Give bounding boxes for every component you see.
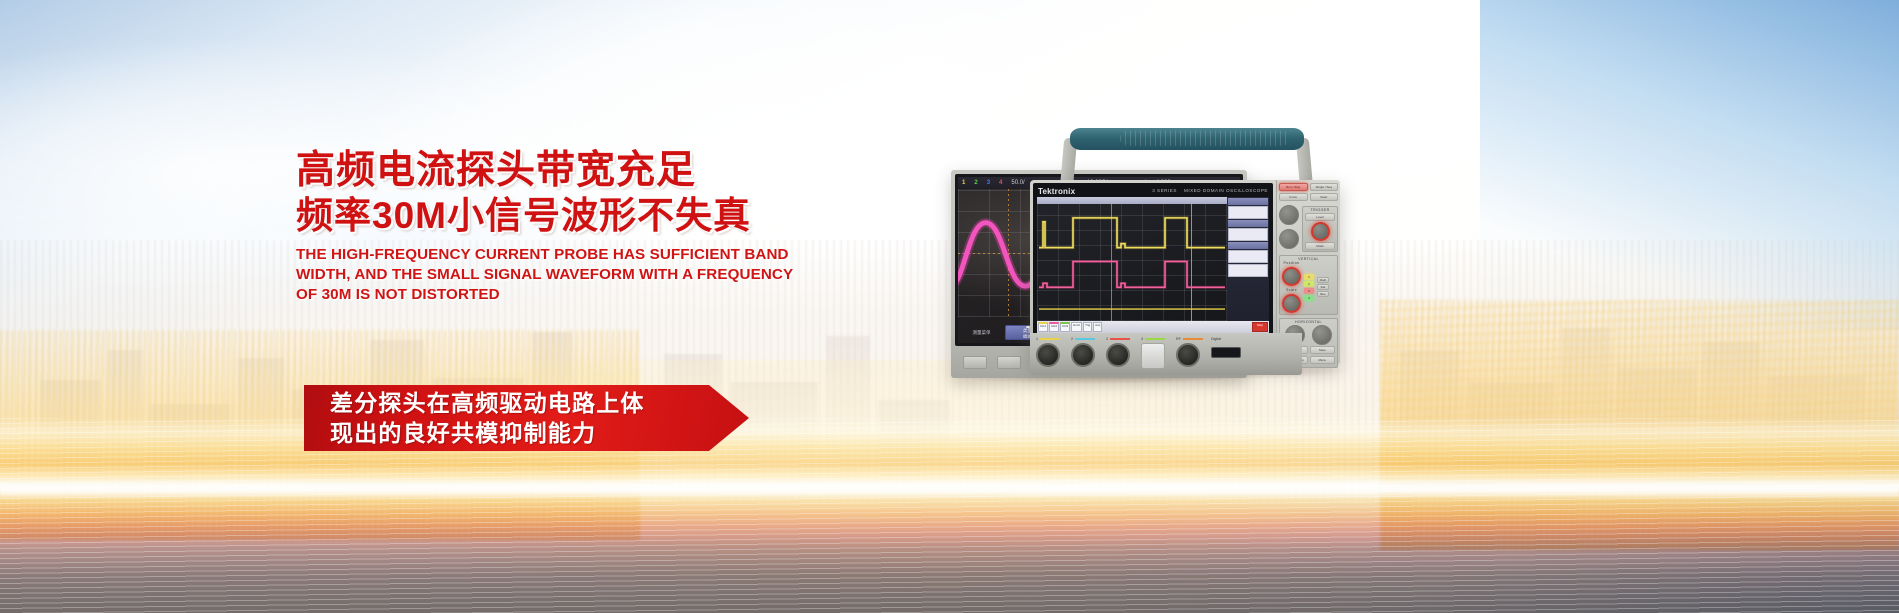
scope2-run-status-badge[interactable]: Stop xyxy=(1252,322,1268,332)
scope2-connector-digital[interactable]: Digital xyxy=(1211,337,1251,358)
light-streaks-fine xyxy=(0,418,1899,613)
headline-line-1: 高频电流探头带宽充足 xyxy=(296,148,766,193)
scope2-connector-2[interactable]: 2 xyxy=(1071,337,1103,367)
tektronix-oscilloscope: Tektronix 3 SERIES MIXED DOMAIN OSCILLOS… xyxy=(1030,128,1340,378)
scope2-channel-2-button[interactable]: 2 xyxy=(1304,281,1314,287)
scope2-run-stop-button[interactable]: Run / Stop xyxy=(1279,183,1308,191)
scope2-badge-ch3[interactable]: CH3 xyxy=(1060,322,1070,332)
scope1-ch4-indicator[interactable]: 4 xyxy=(999,180,1002,186)
scope1-ch3-indicator[interactable]: 3 xyxy=(987,180,990,186)
scope2-vertical-position-knob[interactable] xyxy=(1282,267,1301,286)
scope2-single-seq-button[interactable]: Single / Seq xyxy=(1310,183,1339,191)
scope2-menu-button[interactable]: Menu xyxy=(1310,356,1336,364)
scope1-button-1[interactable] xyxy=(963,356,987,369)
scope2-model: 3 SERIES xyxy=(1152,188,1177,193)
scope2-connector-2-color-bar xyxy=(1075,338,1095,340)
scope2-badge-bar: CH1 CH2 CH3 Horiz Trig Acq Stop xyxy=(1037,321,1269,333)
promo-banner: 高频电流探头带宽充足 频率30M小信号波形不失真 THE HIGH-FREQUE… xyxy=(0,0,1899,613)
scope2-badge-ch2[interactable]: CH2 xyxy=(1049,322,1059,332)
ribbon-callout: 差分探头在高频驱动电路上体 现出的良好共模抑制能力 xyxy=(304,385,749,451)
scope2-connector-1[interactable]: 1 xyxy=(1036,337,1068,367)
scope2-connector-2-label: 2 xyxy=(1071,337,1073,341)
scope2-probe-4[interactable] xyxy=(1141,343,1165,369)
scope2-display xyxy=(1037,197,1269,321)
scope2-channel-4-button[interactable]: 4 xyxy=(1304,295,1314,301)
scope2-model-desc: MIXED DOMAIN OSCILLOSCOPE xyxy=(1184,188,1268,193)
scope2-channel-1-button[interactable]: 1 xyxy=(1304,274,1314,280)
scope2-badge-ch1[interactable]: CH1 xyxy=(1038,322,1048,332)
scope2-clear-button[interactable]: Clear xyxy=(1310,193,1339,201)
scope2-channel-side-buttons: Math Ref Bus xyxy=(1317,277,1329,297)
subheadline-block: THE HIGH-FREQUENCY CURRENT PROBE HAS SUF… xyxy=(296,245,756,305)
scope2-bnc-1[interactable] xyxy=(1036,343,1060,367)
scope2-connector-rf-label: RF xyxy=(1176,337,1181,341)
scope2-connector-digital-label: Digital xyxy=(1211,337,1221,341)
scope1-ch1-indicator[interactable]: 1 xyxy=(962,180,965,186)
scope2-trigger-title: TRIGGER xyxy=(1305,208,1335,212)
subheadline-line-1: THE HIGH-FREQUENCY CURRENT PROBE HAS SUF… xyxy=(296,245,756,265)
tektronix-brand-name: Tektronix xyxy=(1038,187,1075,196)
scope1-timebase: 50.0/ xyxy=(1011,180,1024,186)
headline-line-2: 频率30M小信号波形不失真 xyxy=(296,194,766,238)
scope2-connector-rf-color-bar xyxy=(1183,338,1203,340)
scope2-trigger-mode-button[interactable]: Mode xyxy=(1305,242,1335,250)
subheadline-line-2: WIDTH, AND THE SMALL SIGNAL WAVEFORM WIT… xyxy=(296,265,756,285)
scope2-model-label: 3 SERIES MIXED DOMAIN OSCILLOSCOPE xyxy=(1152,188,1268,193)
scope2-handle-ribs xyxy=(1120,131,1290,146)
scope2-menu-item-1[interactable] xyxy=(1228,206,1268,219)
scope2-badge-trig[interactable]: Trig xyxy=(1083,322,1092,332)
light-streak-highlight xyxy=(0,478,1899,500)
scope2-connector-rf[interactable]: RF xyxy=(1176,337,1208,367)
scope2-bnc-2[interactable] xyxy=(1071,343,1095,367)
scope2-vertical-position-label: Position xyxy=(1284,261,1300,265)
scope2-side-menu[interactable] xyxy=(1227,197,1269,321)
scope2-channel-buttons: 1 2 3 4 xyxy=(1304,274,1314,301)
scope2-vertical-scale-knob[interactable] xyxy=(1282,294,1301,313)
scope2-badge-horiz[interactable]: Horiz xyxy=(1071,322,1082,332)
scope2-connector-4-label: 4 xyxy=(1141,337,1143,341)
scope2-connector-1-label: 1 xyxy=(1036,337,1038,341)
scope2-input-connectors: 1 2 3 4 xyxy=(1030,333,1302,375)
scope2-trigger-source-button[interactable]: Level xyxy=(1305,213,1335,221)
scope2-menu-header-1 xyxy=(1228,198,1268,205)
scope2-menu-item-3[interactable] xyxy=(1228,250,1268,263)
scope2-connector-3[interactable]: 3 xyxy=(1106,337,1138,367)
scope2-trigger-section: TRIGGER Level Mode xyxy=(1302,206,1338,252)
scope2-runstop-row: Run / Stop Single / Seq xyxy=(1279,183,1338,191)
scope2-horizontal-title: HORIZONTAL xyxy=(1282,320,1335,324)
scope2-connector-3-label: 3 xyxy=(1106,337,1108,341)
scope2-carry-handle[interactable] xyxy=(1048,128,1326,164)
scope2-bnc-rf[interactable] xyxy=(1176,343,1200,367)
scope2-bus-button[interactable]: Bus xyxy=(1317,291,1329,297)
scope2-math-button[interactable]: Math xyxy=(1317,277,1329,283)
scope1-softkey-0-label: 测量菜单 xyxy=(973,330,991,336)
scope2-digital-port[interactable] xyxy=(1211,347,1241,358)
scope2-channel-3-button[interactable]: 3 xyxy=(1304,288,1314,294)
scope2-multipurpose-knob-b[interactable] xyxy=(1279,229,1299,249)
scope2-connector-4-color-bar xyxy=(1145,338,1165,340)
scope2-waveforms xyxy=(1037,204,1227,321)
scope2-connector-3-color-bar xyxy=(1110,338,1130,340)
scope2-menu-item-2[interactable] xyxy=(1228,228,1268,241)
scope2-trigger-level-knob[interactable] xyxy=(1311,222,1330,241)
scope1-ch2-indicator[interactable]: 2 xyxy=(974,180,977,186)
headline-block: 高频电流探头带宽充足 频率30M小信号波形不失真 THE HIGH-FREQUE… xyxy=(296,148,766,305)
scope2-plot-area[interactable] xyxy=(1037,197,1227,321)
scope2-ref-button[interactable]: Ref xyxy=(1317,284,1329,290)
scope2-aux-row: Force Clear xyxy=(1279,193,1338,201)
scope2-bezel: Tektronix 3 SERIES MIXED DOMAIN OSCILLOS… xyxy=(1033,183,1273,335)
scope2-force-button[interactable]: Force xyxy=(1279,193,1308,201)
scope2-save-button[interactable]: Save xyxy=(1310,346,1336,354)
scope2-horizontal-scale-knob[interactable] xyxy=(1312,325,1332,345)
scope2-connector-1-color-bar xyxy=(1040,338,1060,340)
scope2-menu-header-2 xyxy=(1228,220,1268,227)
scope2-menu-item-4[interactable] xyxy=(1228,264,1268,277)
scope2-badge-acq[interactable]: Acq xyxy=(1093,322,1102,332)
scope2-menu-header-3 xyxy=(1228,242,1268,249)
scope1-softkey-0[interactable]: 测量菜单 xyxy=(960,325,1003,340)
scope2-plot-toolbar[interactable] xyxy=(1037,197,1227,204)
scope2-connector-4[interactable]: 4 xyxy=(1141,337,1173,369)
ribbon-line-1: 差分探头在高频驱动电路上体 xyxy=(330,388,749,418)
scope2-vertical-section: VERTICAL Position Scale 1 2 3 4 xyxy=(1279,255,1338,315)
scope2-vertical-scale-label: Scale xyxy=(1286,288,1297,292)
scope2-bnc-3[interactable] xyxy=(1106,343,1130,367)
scope1-button-2[interactable] xyxy=(997,356,1021,369)
ribbon-line-2: 现出的良好共模抑制能力 xyxy=(330,418,749,448)
subheadline-line-3: OF 30M IS NOT DISTORTED xyxy=(296,285,756,305)
scope2-multipurpose-knob-a[interactable] xyxy=(1279,205,1299,225)
scope2-handle-grip xyxy=(1070,128,1304,150)
